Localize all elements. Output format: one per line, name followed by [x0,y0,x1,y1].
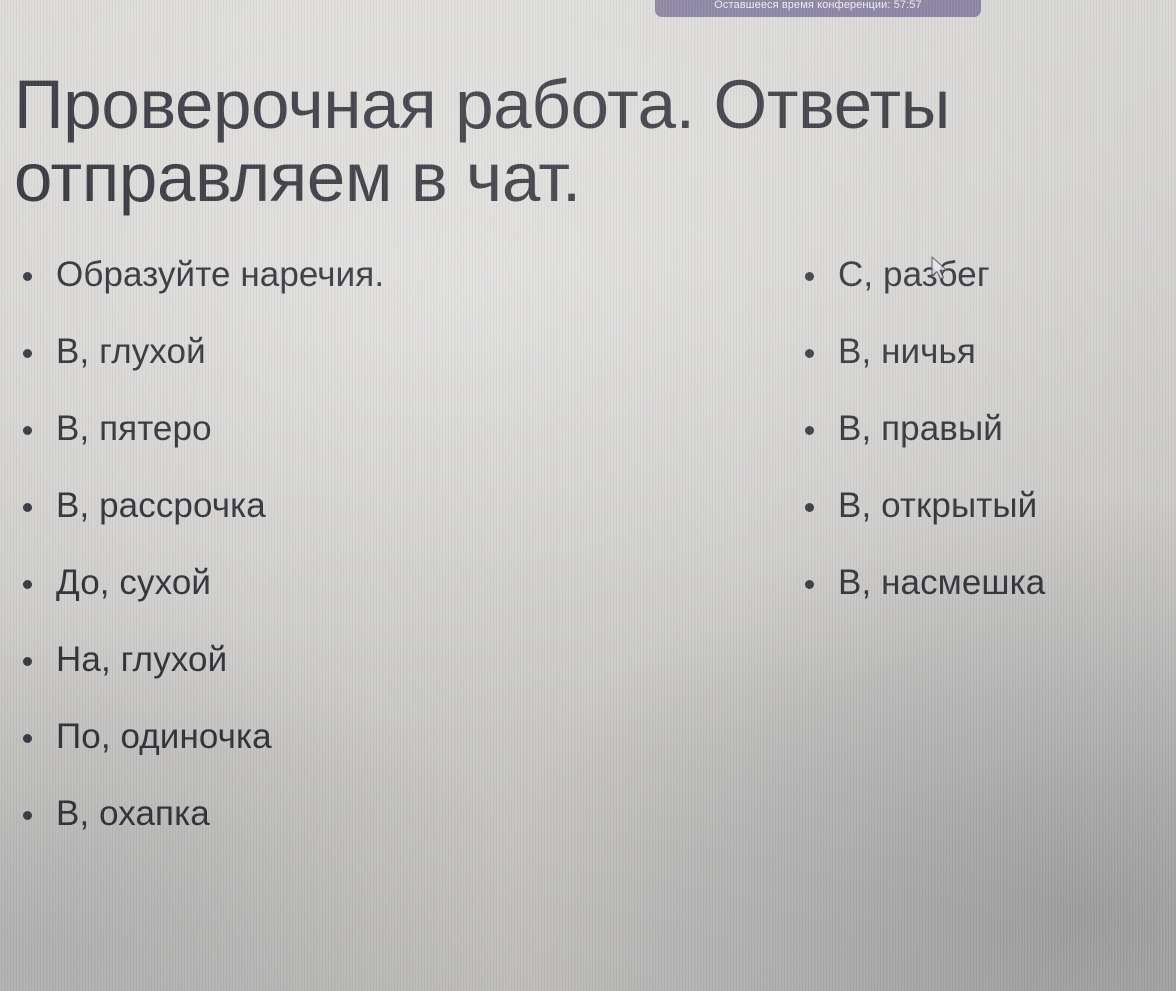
list-item: В, открытый [800,486,1176,563]
slide-screen-photo: Оставшееся время конференции: 57:57 Пров… [0,0,1176,991]
list-item-label: До, сухой [56,563,211,602]
slide-title: Проверочная работа. Ответы отправляем в … [14,68,1176,214]
list-item-label: С, разбег [838,255,990,294]
list-item-label: В, охапка [56,794,210,833]
bullet-dot-icon [23,349,32,358]
bullet-dot-icon [23,734,32,743]
bullet-dot-icon [23,811,32,820]
list-item-label: В, ничья [838,332,976,371]
list-item: В, охапка [18,794,718,871]
bullet-dot-icon [805,349,814,358]
list-item-label: В, пятеро [56,409,212,448]
bullet-dot-icon [23,272,32,281]
bullet-list-left: Образуйте наречия. В, глухой В, пятеро В… [18,255,718,871]
list-item: До, сухой [18,563,718,640]
list-item: В, насмешка [800,563,1176,640]
bullet-dot-icon [805,580,814,589]
list-item-label: По, одиночка [56,717,272,756]
list-item: Образуйте наречия. [18,255,718,332]
list-item-label: В, правый [838,409,1003,448]
list-item-label: В, насмешка [838,563,1045,602]
list-item: В, ничья [800,332,1176,409]
bullet-dot-icon [23,657,32,666]
list-item-label: На, глухой [56,640,227,679]
list-item: В, рассрочка [18,486,718,563]
bullet-dot-icon [23,426,32,435]
list-item: На, глухой [18,640,718,717]
list-item-label: В, глухой [56,332,206,371]
list-item-label: Образуйте наречия. [56,255,384,294]
list-item: В, правый [800,409,1176,486]
list-item: С, разбег [800,255,1176,332]
bullet-dot-icon [23,580,32,589]
bullet-dot-icon [805,426,814,435]
bullet-dot-icon [805,272,814,281]
list-item-label: В, рассрочка [56,486,266,525]
list-item-label: В, открытый [838,486,1037,525]
bullet-dot-icon [805,503,814,512]
bullet-dot-icon [23,503,32,512]
bullet-list-right: С, разбег В, ничья В, правый В, открытый… [800,255,1176,640]
list-item: По, одиночка [18,717,718,794]
conference-timer-banner: Оставшееся время конференции: 57:57 [655,0,981,17]
list-item: В, глухой [18,332,718,409]
list-item: В, пятеро [18,409,718,486]
